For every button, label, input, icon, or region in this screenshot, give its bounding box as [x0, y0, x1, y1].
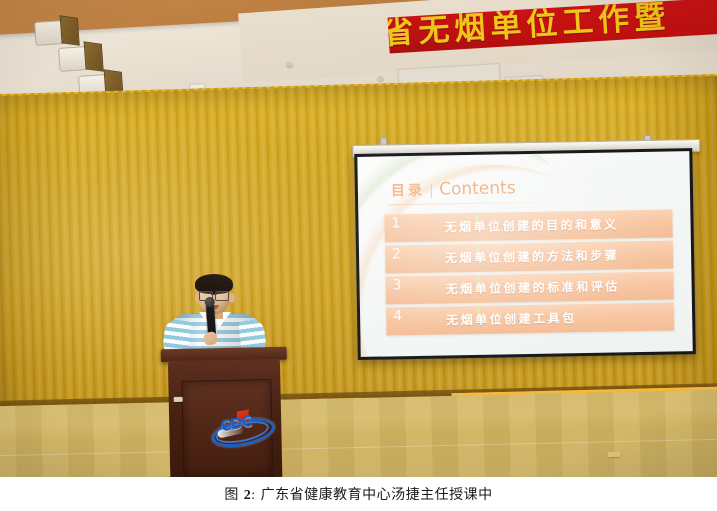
slide-contents-item: 4 无烟单位创建工具包 — [386, 302, 674, 335]
item-text: 无烟单位创建的目的和意义 — [444, 215, 618, 235]
banner-edge-shadow — [388, 15, 426, 53]
ceiling-fixture-dot — [286, 62, 293, 67]
cdc-logo: CDC — [211, 410, 270, 443]
slide-header-cn: 目录 — [391, 183, 425, 200]
slide-header-en: Contents — [439, 178, 516, 199]
projected-slide: 目录|Contents 1 无烟单位创建的目的和意义 2 无烟单位创建的方法和步… — [357, 151, 692, 357]
floor-marker — [608, 452, 620, 457]
ear-right — [229, 293, 235, 303]
slide-contents-item: 2 无烟单位创建的方法和步骤 — [385, 240, 673, 273]
lecture-hall-photograph: 省无烟单位工作暨 目录|Contents — [0, 0, 717, 477]
item-number: 3 — [392, 277, 401, 293]
podium-front-panel: CDC — [168, 359, 282, 477]
podium-inset-panel: CDC — [181, 379, 273, 477]
slide-contents-item: 3 无烟单位创建的标准和评估 — [385, 271, 673, 304]
slide-header: 目录|Contents — [391, 178, 516, 200]
caption-colon: : — [251, 488, 255, 503]
item-number: 1 — [391, 215, 400, 231]
caption-line: 图 2: 广东省健康教育中心汤捷主任授课中 — [224, 484, 492, 504]
slide-contents-list: 1 无烟单位创建的目的和意义 2 无烟单位创建的方法和步骤 3 无烟单位创建的标… — [384, 209, 674, 338]
item-text: 无烟单位创建的标准和评估 — [446, 277, 620, 297]
ceiling-fixture-dot — [377, 76, 384, 81]
screen-border: 目录|Contents 1 无烟单位创建的目的和意义 2 无烟单位创建的方法和步… — [354, 148, 696, 360]
caption-label: 图 — [224, 488, 239, 503]
podium-control-button — [174, 397, 183, 402]
item-number: 2 — [392, 246, 401, 262]
item-text: 无烟单位创建工具包 — [446, 309, 577, 328]
caption-text: 广东省健康教育中心汤捷主任授课中 — [261, 487, 493, 503]
wooden-podium: CDC — [165, 347, 286, 477]
projection-screen: 目录|Contents 1 无烟单位创建的目的和意义 2 无烟单位创建的方法和步… — [352, 139, 702, 363]
item-number: 4 — [393, 308, 402, 324]
slide-header-separator: | — [429, 183, 435, 199]
item-text: 无烟单位创建的方法和步骤 — [445, 246, 619, 266]
figure-caption: 图 2: 广东省健康教育中心汤捷主任授课中 — [0, 477, 717, 511]
slide-contents-item: 1 无烟单位创建的目的和意义 — [384, 209, 672, 242]
stage-floor — [0, 390, 717, 477]
floor-reflection — [0, 390, 717, 477]
